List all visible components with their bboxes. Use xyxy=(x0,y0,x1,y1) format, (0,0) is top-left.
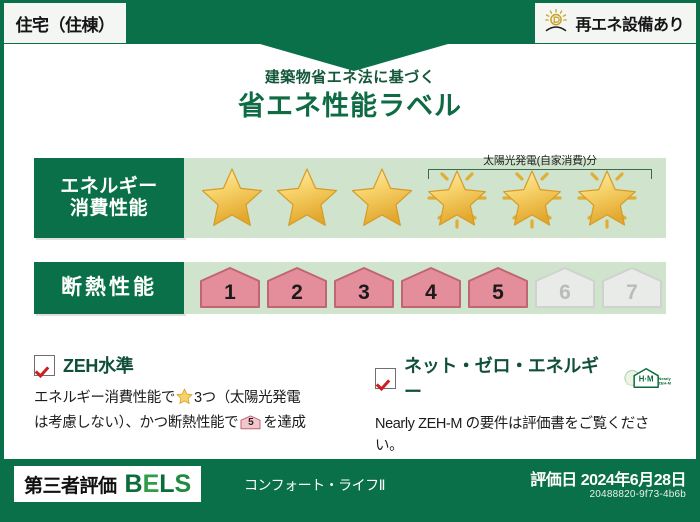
category-tag: 住宅（住棟） xyxy=(4,3,126,43)
insulation-performance-label: 断熱性能 xyxy=(34,262,184,314)
third-party-eval-label: 第三者評価 xyxy=(24,471,117,498)
insulation-performance-body: 1 2 3 4 5 xyxy=(184,262,666,314)
net-zero-energy-statement: ネット・ゼロ・エネルギー H·M Nearly ZEH-M Nearly ZEH… xyxy=(375,352,672,457)
insulation-performance-row: 断熱性能 1 2 3 4 xyxy=(34,262,666,314)
building-name: コンフォート・ライフⅡ xyxy=(244,475,385,495)
energy-label-line2: 消費性能 xyxy=(70,198,148,220)
evaluation-id: 20488820-9f73-4b6b xyxy=(590,489,686,500)
zeh-standard-statement: ZEH水準 エネルギー消費性能で3つ（太陽光発電 は考慮しない）、かつ断熱性能で… xyxy=(34,352,359,457)
insulation-step-inactive: 6 xyxy=(533,266,597,310)
category-tag-label: 住宅（住棟） xyxy=(16,11,115,36)
insulation-step: 5 xyxy=(466,266,530,310)
energy-performance-row: エネルギー 消費性能 太陽光発電(自家消費)分 xyxy=(34,158,666,238)
zeh-standard-title: ZEH水準 xyxy=(63,352,134,378)
insulation-step: 2 xyxy=(265,266,329,310)
renewable-equipment-badge: 再エネ設備あり xyxy=(535,3,696,43)
solar-bracket xyxy=(428,169,652,179)
bels-letter-l: L xyxy=(159,470,174,498)
insulation-step-value: 5 xyxy=(492,282,504,310)
bels-certification-chip: 第三者評価 BELS xyxy=(14,466,201,502)
zeh-m-logo-icon: H·M Nearly ZEH-M xyxy=(624,365,672,391)
zeh-text-4: を達成 xyxy=(263,415,305,431)
net-zero-heading: ネット・ゼロ・エネルギー H·M Nearly ZEH-M xyxy=(375,352,672,404)
insulation-step-list: 1 2 3 4 5 xyxy=(184,266,664,310)
svg-text:H·M: H·M xyxy=(639,375,654,384)
insulation-step-value: 3 xyxy=(358,282,370,310)
check-icon xyxy=(34,355,55,376)
inline-house-value: 5 xyxy=(240,414,261,431)
label-footer: 第三者評価 BELS コンフォート・ライフⅡ 評価日 2024年6月28日 20… xyxy=(0,458,700,522)
insulation-step: 3 xyxy=(332,266,396,310)
insulation-step: 1 xyxy=(198,266,262,310)
insulation-step-value: 4 xyxy=(425,282,437,310)
insulation-step-value: 2 xyxy=(291,282,303,310)
zeh-standard-body: エネルギー消費性能で3つ（太陽光発電 は考慮しない）、かつ断熱性能で5を達成 xyxy=(34,387,359,434)
solar-generation-annotation: 太陽光発電(自家消費)分 xyxy=(428,152,652,179)
insulation-label-text: 断熱性能 xyxy=(61,276,157,301)
bels-letter-s: S xyxy=(175,470,192,498)
insulation-step-value: 7 xyxy=(626,282,638,310)
inline-star-icon xyxy=(176,388,193,412)
insulation-step-inactive: 7 xyxy=(600,266,664,310)
star-plain xyxy=(271,163,342,233)
net-zero-body: Nearly ZEH-M の要件は評価書をご覧ください。 xyxy=(375,413,672,457)
insulation-step-value: 1 xyxy=(224,282,236,310)
zeh-text-3: は考慮しない）、かつ断熱性能で xyxy=(34,415,238,431)
insulation-step-value: 6 xyxy=(559,282,571,310)
bels-energy-label: 住宅（住棟） 再エネ設備あり 建築物省エネ法に基づく 省エネ性能 xyxy=(0,0,700,522)
star-plain xyxy=(346,163,417,233)
zeh-standard-heading: ZEH水準 xyxy=(34,352,359,378)
check-icon xyxy=(375,368,396,389)
bels-letter-b: B xyxy=(125,470,143,498)
renewable-badge-label: 再エネ設備あり xyxy=(575,11,684,35)
zeh-text-2: 3つ（太陽光発電 xyxy=(194,390,300,406)
bels-wordmark: BELS xyxy=(125,472,192,497)
solar-annotation-label: 太陽光発電(自家消費)分 xyxy=(428,152,652,168)
energy-label-line1: エネルギー xyxy=(60,176,158,198)
solar-sun-icon xyxy=(543,8,569,39)
zeh-text-1: エネルギー消費性能で xyxy=(34,390,175,406)
bels-letter-e: E xyxy=(143,470,160,498)
net-zero-title: ネット・ゼロ・エネルギー xyxy=(404,352,611,404)
energy-performance-label: エネルギー 消費性能 xyxy=(34,158,184,238)
energy-performance-body: 太陽光発電(自家消費)分 xyxy=(184,158,666,238)
star-plain xyxy=(196,163,267,233)
statement-section: ZEH水準 エネルギー消費性能で3つ（太陽光発電 は考慮しない）、かつ断熱性能で… xyxy=(34,352,672,457)
inline-house-icon: 5 xyxy=(240,414,261,431)
svg-text:ZEH-M: ZEH-M xyxy=(658,380,671,385)
evaluation-date: 評価日 2024年6月28日 xyxy=(530,466,686,490)
insulation-step: 4 xyxy=(399,266,463,310)
label-title: 省エネ性能ラベル xyxy=(0,84,700,123)
